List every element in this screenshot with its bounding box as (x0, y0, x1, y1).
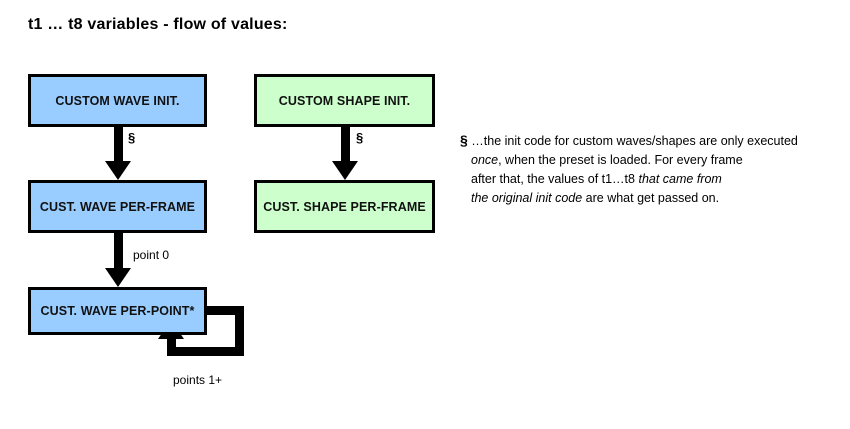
footnote-line-2: once, when the preset is loaded. For eve… (460, 151, 838, 170)
arrow-head-icon (105, 268, 131, 287)
arrow-label-section-mark-wave: § (128, 130, 135, 145)
box-custom-wave-per-point[interactable]: CUST. WAVE PER-POINT* (28, 287, 207, 335)
footnote-line-4-text: are what get passed on. (582, 191, 719, 205)
footnote-line-3-text: after that, the values of t1…t8 (471, 172, 638, 186)
arrow-shaft (114, 233, 123, 270)
footnote-line-1: § …the init code for custom waves/shapes… (460, 131, 838, 151)
box-custom-wave-init[interactable]: CUSTOM WAVE INIT. (28, 74, 207, 127)
diagram-canvas: t1 … t8 variables - flow of values: CUST… (0, 0, 850, 429)
footnote-line-3: after that, the values of t1…t8 that cam… (460, 170, 838, 189)
footnote-block: § …the init code for custom waves/shapes… (460, 131, 838, 208)
footnote-line-1-text: …the init code for custom waves/shapes a… (471, 134, 798, 148)
loop-segment-riser (167, 338, 176, 350)
arrow-head-icon (332, 161, 358, 180)
arrow-shaft (341, 127, 350, 163)
loop-segment-bottom (167, 347, 244, 356)
page-title: t1 … t8 variables - flow of values: (28, 16, 288, 34)
footnote-line-4: the original init code are what get pass… (460, 189, 838, 208)
footnote-line-2-text: , when the preset is loaded. For every f… (498, 153, 743, 167)
footnote-emphasis-that-came-from: that came from (638, 172, 721, 186)
arrow-label-points-1-plus: points 1+ (173, 373, 222, 387)
footnote-emphasis-original-init-code: the original init code (471, 191, 582, 205)
arrow-label-section-mark-shape: § (356, 130, 363, 145)
arrow-shaft (114, 127, 123, 163)
box-custom-wave-per-frame[interactable]: CUST. WAVE PER-FRAME (28, 180, 207, 233)
section-mark-icon: § (460, 132, 468, 148)
box-custom-shape-per-frame[interactable]: CUST. SHAPE PER-FRAME (254, 180, 435, 233)
arrow-label-point-0: point 0 (133, 248, 169, 262)
arrow-head-icon (105, 161, 131, 180)
arrow-wave-per-frame-to-per-point (104, 233, 132, 287)
box-custom-shape-init[interactable]: CUSTOM SHAPE INIT. (254, 74, 435, 127)
arrow-shape-init-to-per-frame (331, 127, 359, 180)
footnote-emphasis-once: once (471, 153, 498, 167)
